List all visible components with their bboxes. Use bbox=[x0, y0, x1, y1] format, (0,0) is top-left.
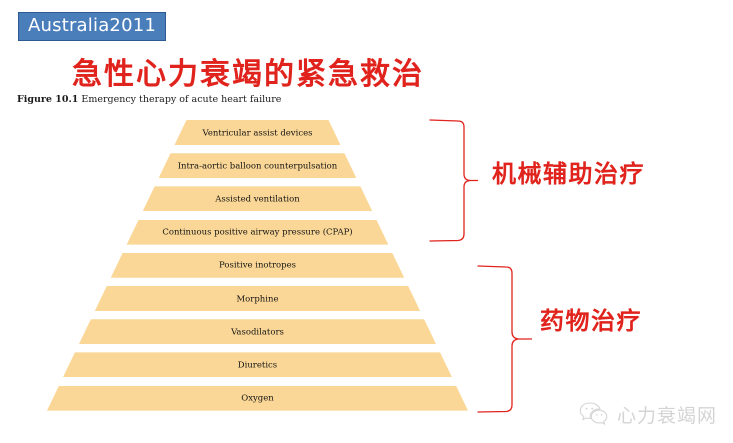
pyramid-row: Diuretics bbox=[63, 352, 452, 377]
pyramid-row: Ventricular assist devices bbox=[174, 120, 340, 145]
pyramid-row: Vasodilators bbox=[79, 319, 436, 344]
pyramid-row-label: Morphine bbox=[236, 294, 278, 304]
pyramid-row: Oxygen bbox=[47, 386, 468, 411]
pyramid-row-label: Continuous positive airway pressure (CPA… bbox=[162, 228, 352, 238]
pyramid-row-label: Ventricular assist devices bbox=[202, 128, 312, 138]
pyramid-row-label: Intra-aortic balloon counterpulsation bbox=[178, 161, 338, 171]
pyramid-row-label: Vasodilators bbox=[231, 327, 284, 337]
pyramid-row-label: Positive inotropes bbox=[219, 261, 296, 271]
pyramid-row: Positive inotropes bbox=[111, 253, 405, 278]
pyramid-diagram: Ventricular assist devicesIntra-aortic b… bbox=[0, 0, 733, 443]
pyramid-row: Continuous positive airway pressure (CPA… bbox=[127, 220, 389, 245]
annotation-mechanical: 机械辅助治疗 bbox=[492, 160, 645, 188]
watermark: 心力衰竭网 bbox=[579, 401, 717, 431]
pyramid-row-label: Assisted ventilation bbox=[215, 194, 300, 204]
watermark-label: 心力衰竭网 bbox=[617, 405, 717, 427]
annotation-pharmacological: 药物治疗 bbox=[540, 307, 642, 335]
pyramid-row: Morphine bbox=[95, 286, 420, 311]
pyramid-row: Intra-aortic balloon counterpulsation bbox=[159, 153, 357, 178]
pyramid-row-label: Diuretics bbox=[238, 360, 277, 370]
slide-canvas: Australia2011 急性心力衰竭的紧急救治 Figure 10.1 Em… bbox=[0, 0, 733, 443]
wechat-icon bbox=[579, 401, 609, 431]
pyramid-row-label: Oxygen bbox=[241, 394, 274, 404]
pyramid-row: Assisted ventilation bbox=[143, 186, 373, 211]
